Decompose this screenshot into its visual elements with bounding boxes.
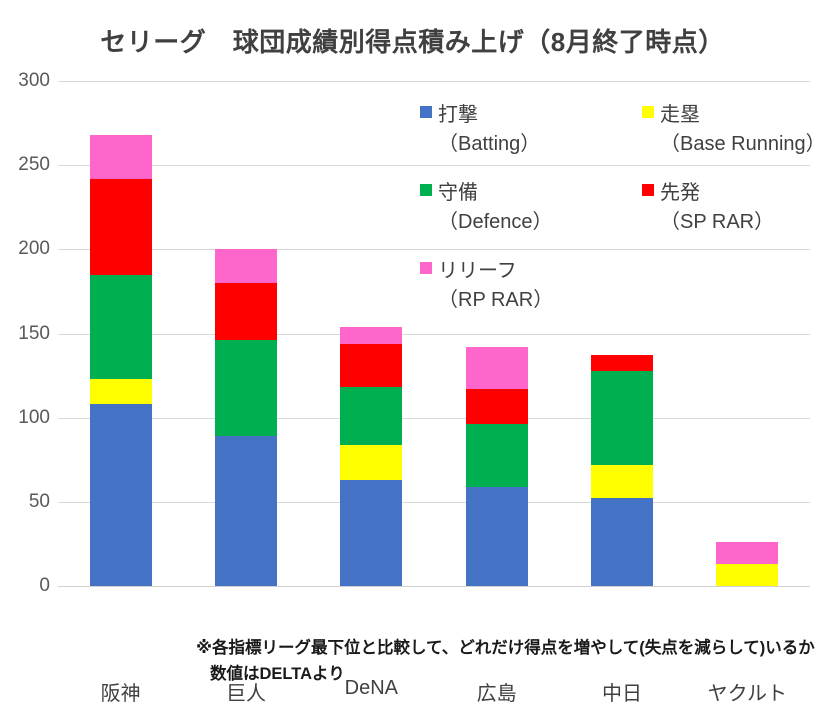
- legend-item-4[interactable]: 先発（SP RAR）: [642, 178, 825, 234]
- bar-segment[interactable]: [215, 249, 277, 283]
- bar-segment[interactable]: [591, 371, 653, 465]
- bar-segment[interactable]: [90, 275, 152, 379]
- bar-segment[interactable]: [466, 389, 528, 424]
- y-tick-label-200: 200: [4, 238, 50, 260]
- bar-stack: [340, 81, 402, 586]
- legend-label-jp: 走塁: [660, 98, 700, 127]
- legend-item-2[interactable]: 走塁（Base Running）: [642, 100, 825, 156]
- bar-group-阪神[interactable]: [90, 81, 152, 586]
- bar-segment[interactable]: [340, 445, 402, 480]
- y-axis: 050100150200250300: [0, 81, 50, 586]
- legend-item-3[interactable]: 守備（Defence）: [420, 178, 610, 234]
- legend-label-jp: リリーフ: [438, 254, 517, 283]
- legend-label-jp: 打撃: [438, 98, 478, 127]
- legend-row: 走塁: [642, 100, 825, 124]
- bar-group-DeNA[interactable]: [340, 81, 402, 586]
- legend-swatch-rp-rar: [420, 262, 432, 274]
- bar-stack: [215, 81, 277, 586]
- y-tick-label-250: 250: [4, 154, 50, 176]
- legend-label-en: （Base Running）: [660, 127, 825, 156]
- legend-row: 守備: [420, 178, 610, 202]
- footnote-line-2: 数値はDELTAより: [210, 662, 821, 688]
- bar-segment[interactable]: [466, 347, 528, 389]
- bar-segment[interactable]: [466, 424, 528, 486]
- legend-label-en: （Defence）: [438, 205, 610, 234]
- bar-segment[interactable]: [215, 340, 277, 436]
- legend-swatch-defence: [420, 184, 432, 196]
- legend-label-en: （SP RAR）: [660, 205, 825, 234]
- chart-footnote: ※各指標リーグ最下位と比較して、どれだけ得点を増やして(失点を減らして)いるか …: [196, 636, 821, 687]
- chart-title: セリーグ 球団成績別得点積み上げ（8月終了時点）: [0, 22, 825, 59]
- bar-segment[interactable]: [716, 542, 778, 564]
- y-tick-label-150: 150: [4, 323, 50, 345]
- bar-segment[interactable]: [215, 436, 277, 586]
- footnote-line-1: ※各指標リーグ最下位と比較して、どれだけ得点を増やして(失点を減らして)いるか: [196, 636, 821, 662]
- y-tick-label-100: 100: [4, 407, 50, 429]
- legend-label-en: （RP RAR）: [438, 283, 610, 312]
- stacked-bar-chart: セリーグ 球団成績別得点積み上げ（8月終了時点） 050100150200250…: [0, 0, 825, 704]
- legend-row: 先発: [642, 178, 825, 202]
- legend-swatch-sp-rar: [642, 184, 654, 196]
- bar-segment[interactable]: [466, 487, 528, 586]
- legend-label-jp: 守備: [438, 176, 478, 205]
- bar-segment[interactable]: [90, 379, 152, 404]
- chart-legend: 打撃（Batting）走塁（Base Running）守備（Defence）先発…: [420, 100, 810, 315]
- legend-label-jp: 先発: [660, 176, 700, 205]
- bar-stack: [90, 81, 152, 586]
- legend-row: リリーフ: [420, 256, 610, 280]
- y-tick-label-0: 0: [4, 575, 50, 597]
- bar-segment[interactable]: [90, 179, 152, 275]
- bar-segment[interactable]: [591, 355, 653, 370]
- bar-segment[interactable]: [716, 564, 778, 586]
- x-tick-label-阪神: 阪神: [58, 677, 183, 706]
- bar-segment[interactable]: [215, 283, 277, 340]
- legend-item-5[interactable]: リリーフ（RP RAR）: [420, 256, 610, 312]
- bar-group-巨人[interactable]: [215, 81, 277, 586]
- legend-row: 打撃: [420, 100, 610, 124]
- legend-item-1[interactable]: 打撃（Batting）: [420, 100, 610, 156]
- legend-label-en: （Batting）: [438, 127, 610, 156]
- bar-segment[interactable]: [340, 327, 402, 344]
- bar-segment[interactable]: [340, 387, 402, 444]
- bar-segment[interactable]: [90, 135, 152, 179]
- bar-segment[interactable]: [340, 344, 402, 388]
- legend-swatch-batting: [420, 106, 432, 118]
- bar-segment[interactable]: [591, 498, 653, 586]
- bar-segment[interactable]: [591, 465, 653, 499]
- bar-segment[interactable]: [340, 480, 402, 586]
- legend-swatch-base-running: [642, 106, 654, 118]
- y-tick-label-50: 50: [4, 491, 50, 513]
- bar-segment[interactable]: [90, 404, 152, 586]
- gridline-0: [58, 586, 810, 587]
- y-tick-label-300: 300: [4, 70, 50, 92]
